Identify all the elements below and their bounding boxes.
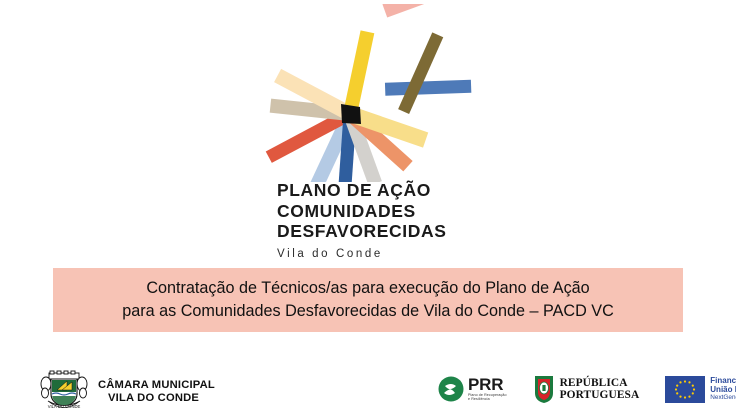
- eu-line-2: União Europeia: [710, 385, 736, 394]
- prr-circle-icon: [438, 376, 464, 402]
- funding-logos-group: PRR Plano de Recuperação e Resiliência R…: [438, 374, 736, 404]
- prr-title: PRR: [468, 377, 507, 393]
- spoke-pink: [382, 4, 456, 17]
- municipality-line-1: CÂMARA MUNICIPAL: [98, 379, 215, 392]
- pacd-pinwheel-logo: [258, 4, 488, 182]
- eu-text: Financiado pela União Europeia NextGener…: [710, 376, 736, 403]
- prr-logo: PRR Plano de Recuperação e Resiliência: [438, 376, 507, 402]
- spoke-olive: [398, 32, 443, 114]
- republica-portuguesa-logo: REPÚBLICA PORTUGUESA: [533, 374, 640, 404]
- eu-line-1: Financiado pela: [710, 376, 736, 385]
- municipality-text: CÂMARA MUNICIPAL VILA DO CONDE: [98, 379, 215, 405]
- prr-text: PRR Plano de Recuperação e Resiliência: [468, 377, 507, 402]
- republica-text: REPÚBLICA PORTUGUESA: [560, 377, 640, 401]
- eu-funding-logo: Financiado pela União Europeia NextGener…: [665, 376, 736, 403]
- spoke-yellow: [343, 30, 374, 115]
- wordmark-subtitle: Vila do Conde: [277, 248, 507, 260]
- coat-of-arms-icon: VILA DO CONDE: [36, 370, 92, 414]
- pinwheel-hub: [341, 104, 361, 124]
- eu-line-3: NextGenerationEU: [710, 394, 736, 402]
- wordmark-line-3: DESFAVORECIDAS: [277, 221, 507, 242]
- title-banner: Contratação de Técnicos/as para execução…: [53, 268, 683, 332]
- prr-subtitle-line-2: e Resiliência: [468, 397, 507, 401]
- crest-motto-text: VILA DO CONDE: [48, 404, 81, 409]
- pinwheel-svg: [258, 4, 488, 182]
- footer-bar: VILA DO CONDE CÂMARA MUNICIPAL VILA DO C…: [0, 360, 736, 420]
- spoke-blue-mid: [385, 80, 471, 96]
- banner-line-2: para as Comunidades Desfavorecidas de Vi…: [122, 300, 614, 323]
- banner-line-1: Contratação de Técnicos/as para execução…: [146, 277, 589, 300]
- republica-line-1: REPÚBLICA: [560, 377, 640, 389]
- camara-municipal-logo: VILA DO CONDE CÂMARA MUNICIPAL VILA DO C…: [36, 370, 215, 414]
- logo-wordmark: PLANO DE AÇÃO COMUNIDADES DESFAVORECIDAS…: [277, 180, 507, 260]
- wordmark-line-1: PLANO DE AÇÃO: [277, 180, 507, 201]
- municipality-line-2: VILA DO CONDE: [98, 392, 215, 405]
- wordmark-line-2: COMUNIDADES: [277, 201, 507, 222]
- eu-flag-icon: [665, 376, 705, 403]
- republica-line-2: PORTUGUESA: [560, 389, 640, 401]
- portuguese-shield-icon: [533, 374, 555, 404]
